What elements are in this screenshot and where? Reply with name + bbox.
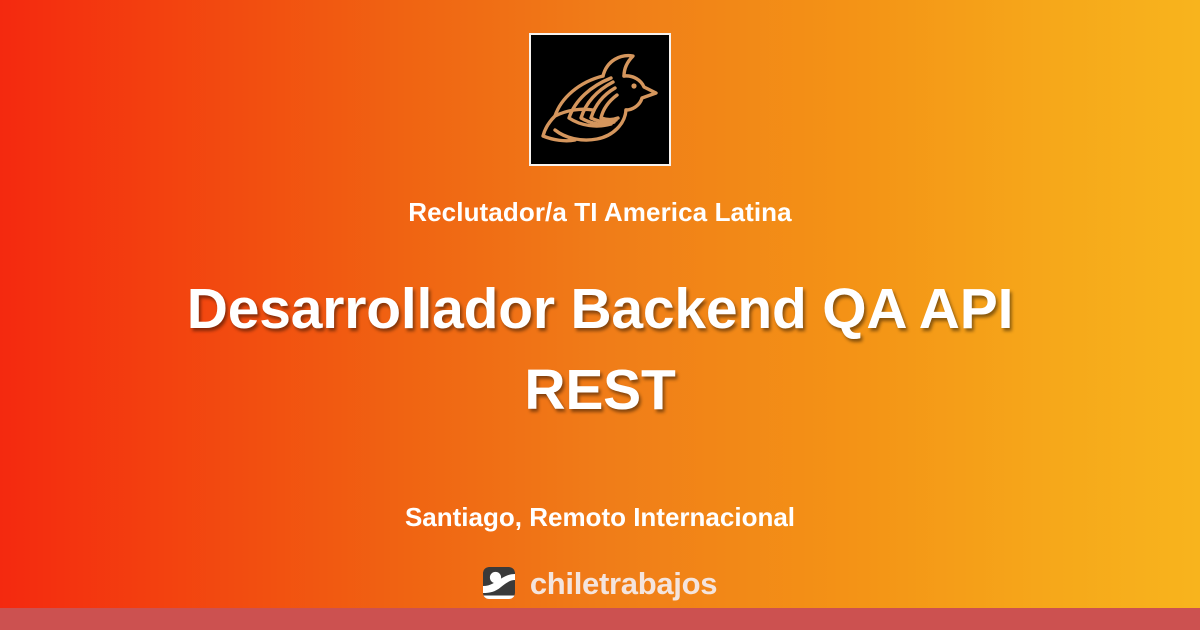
company-name: Reclutador/a TI America Latina	[408, 197, 791, 228]
job-posting-card: Reclutador/a TI America Latina Desarroll…	[0, 0, 1200, 630]
chiletrabajos-logo-icon	[483, 567, 515, 599]
company-logo	[529, 33, 671, 166]
job-title: Desarrollador Backend QA API REST	[150, 269, 1050, 431]
site-brand-name: chiletrabajos	[530, 568, 717, 599]
job-location: Santiago, Remoto Internacional	[405, 502, 795, 533]
bird-logo-icon	[541, 48, 659, 152]
bottom-accent-strip	[0, 608, 1200, 630]
site-brand: chiletrabajos	[483, 567, 717, 599]
